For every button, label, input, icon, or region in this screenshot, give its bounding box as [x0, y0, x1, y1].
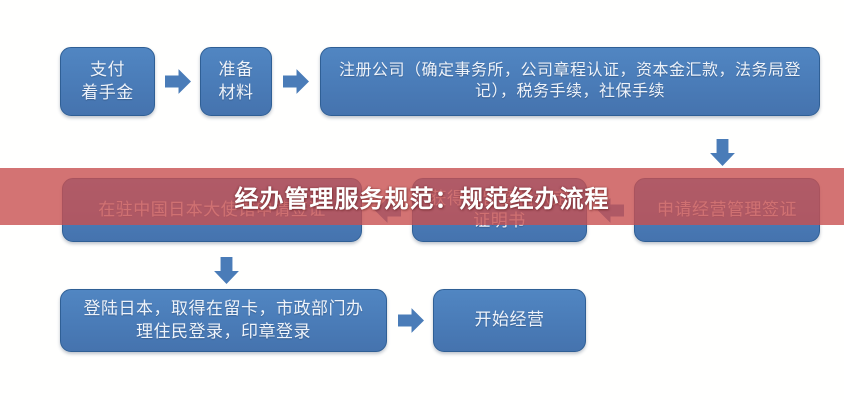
connector-arrow-right-3 [398, 307, 424, 334]
flow-box-start-business-text: 开始经营 [475, 309, 545, 331]
overlay-banner: 经办管理服务规范：规范经办流程 [0, 168, 844, 225]
flow-box-register-company-text: 注册公司（确定事务所，公司章程认证，资本金汇款，法务局登记），税务手续，社保手续 [337, 61, 803, 103]
flow-box-land-japan-text: 登陆日本，取得在留卡，市政部门办理住民登录，印章登录 [75, 298, 372, 342]
flow-box-pay-retainer-b: 支付 着手金 [60, 47, 155, 116]
flow-box-prepare-docs-text: 准备 材料 [219, 59, 254, 103]
flow-box-start-business: 开始经营 [433, 289, 586, 352]
flow-box-register-company: 注册公司（确定事务所，公司章程认证，资本金汇款，法务局登记），税务手续，社保手续 [320, 47, 820, 116]
overlay-title: 经办管理服务规范：规范经办流程 [235, 179, 610, 214]
connector-arrow-down-1 [709, 139, 736, 166]
connector-arrow-right-2 [283, 68, 309, 95]
flow-box-prepare-docs: 准备 材料 [200, 47, 272, 116]
flowchart-canvas: 支付 着手金 准备 材料 注册公司（确定事务所，公司章程认证，资本金汇款，法务局… [0, 0, 844, 400]
connector-arrow-down-2 [213, 257, 240, 284]
connector-arrow-right-1 [165, 68, 191, 95]
flow-box-land-japan: 登陆日本，取得在留卡，市政部门办理住民登录，印章登录 [60, 289, 387, 352]
flow-box-pay-retainer-text: 支付 着手金 [81, 59, 134, 103]
